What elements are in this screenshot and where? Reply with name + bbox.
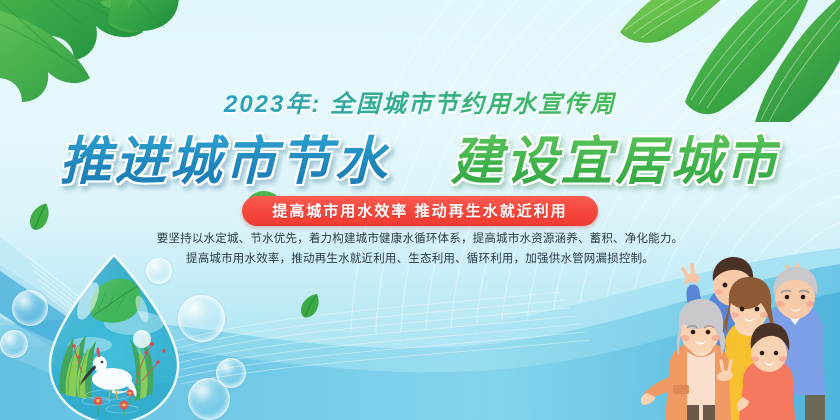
body-text-block: 要坚持以水定城、节水优先，着力构建城市健康水循环体系，提高城市水资源涵养、蓄积、…: [0, 229, 840, 269]
body-line-2: 提高城市用水效率，推动再生水就近利用、生态利用、循环利用，加强供水管网漏损控制。: [0, 249, 840, 269]
bubble-decoration: [178, 295, 225, 342]
headline-text: 2023年: 全国城市节约用水宣传周: [0, 84, 840, 119]
body-line-1: 要坚持以水定城、节水优先，着力构建城市健康水循环体系，提高城市水资源涵养、蓄积、…: [0, 229, 840, 249]
title-segment-green: 建设宜居城市: [450, 132, 780, 192]
bubble-decoration: [0, 330, 28, 358]
poster-canvas: 2023年: 全国城市节约用水宣传周 推进城市节水 建设宜居城市 提高城市用水效…: [0, 0, 840, 420]
slogan-badge: 提高城市用水效率 推动再生水就近利用: [242, 196, 597, 226]
slogan-banner-wrap: 提高城市用水效率 推动再生水就近利用: [0, 196, 840, 226]
bubble-decoration: [12, 290, 48, 326]
title-segment-blue: 推进城市节水: [60, 132, 390, 192]
bubble-decoration: [216, 358, 246, 388]
page-title: 推进城市节水 建设宜居城市: [0, 132, 840, 192]
leaf-top-left-icon: [0, 0, 223, 151]
floating-leaf-icon: [295, 291, 326, 320]
floating-leaf-icon: [89, 379, 118, 407]
water-droplet-illustration: [38, 253, 190, 420]
bubble-decoration: [188, 378, 230, 420]
family-illustration: [639, 255, 840, 420]
